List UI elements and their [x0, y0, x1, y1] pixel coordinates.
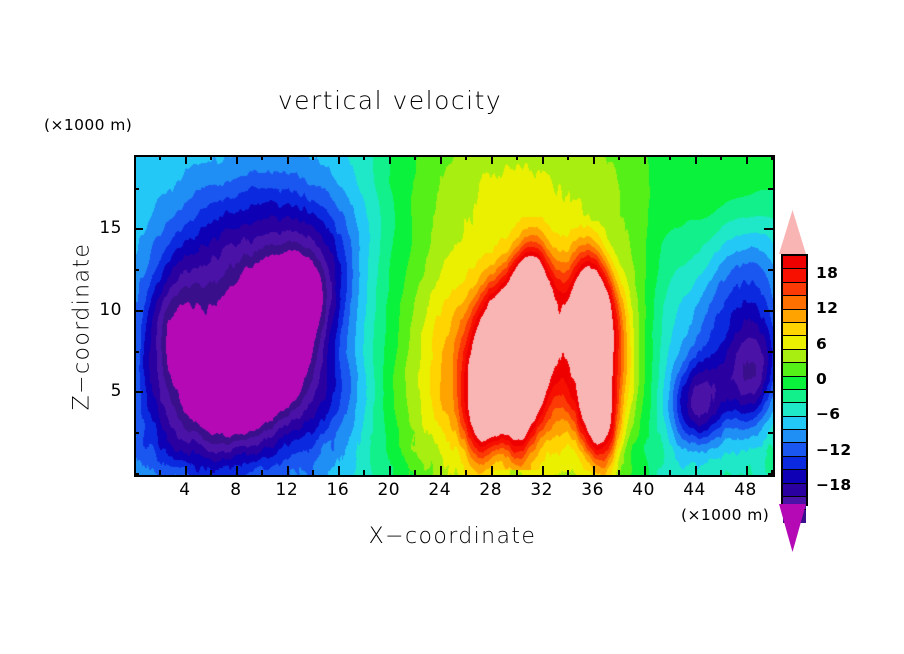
tick-x-top: [644, 155, 646, 164]
x-axis-title: X−coordinate: [0, 524, 904, 549]
tick-x-top: [338, 155, 340, 164]
colorbar-band: [783, 256, 806, 268]
tick-x-top: [210, 155, 212, 160]
colorbar-band: [783, 417, 806, 429]
tick-x-top: [567, 155, 569, 160]
tick-x-top: [491, 155, 493, 164]
tick-x-top: [669, 155, 671, 160]
x-tick-label: 28: [479, 480, 502, 500]
colorbar-band: [783, 430, 806, 442]
tick-x-bottom: [669, 470, 671, 475]
tick-x-bottom: [491, 466, 493, 475]
colorbar-over-arrow: [779, 210, 806, 254]
y-tick-label: 15: [76, 218, 122, 238]
tick-x-bottom: [159, 470, 161, 475]
tick-x-top: [695, 155, 697, 164]
tick-y-left: [134, 188, 139, 190]
colorbar-tick-label: 6: [816, 335, 827, 353]
tick-x-top: [236, 155, 238, 164]
tick-x-top: [516, 155, 518, 160]
colorbar-band: [783, 443, 806, 455]
tick-x-bottom: [236, 466, 238, 475]
tick-x-bottom: [720, 470, 722, 475]
tick-x-bottom: [312, 470, 314, 475]
colorbar-tick-label: 12: [816, 299, 838, 317]
y-axis-title: Z−coordinate: [70, 207, 95, 447]
colorbar-band: [783, 296, 806, 308]
colorbar-band: [783, 377, 806, 389]
tick-x-top: [440, 155, 442, 164]
tick-x-bottom: [440, 466, 442, 475]
x-tick-label: 12: [276, 480, 299, 500]
x-tick-label: 16: [327, 480, 350, 500]
figure-root: vertical velocity (×1000 m) (×1000 m) X−…: [0, 0, 904, 654]
colorbar-band: [783, 363, 806, 375]
colorbar-band: [783, 457, 806, 469]
tick-x-top: [261, 155, 263, 160]
x-axis-unit-label: (×1000 m): [681, 506, 769, 524]
tick-y-left: [134, 269, 139, 271]
colorbar-band: [783, 310, 806, 322]
tick-x-bottom: [465, 470, 467, 475]
colorbar-bands: [781, 254, 808, 506]
tick-y-left: [134, 351, 139, 353]
tick-x-bottom: [618, 470, 620, 475]
x-tick-label: 20: [377, 480, 400, 500]
colorbar-tick-label: 18: [816, 264, 838, 282]
y-tick-label: 10: [76, 300, 122, 320]
tick-x-top: [542, 155, 544, 164]
colorbar-band: [783, 470, 806, 482]
tick-x-top: [618, 155, 620, 160]
tick-x-top: [134, 155, 136, 160]
tick-y-right: [768, 188, 773, 190]
tick-y-left: [134, 310, 143, 312]
tick-x-top: [771, 155, 773, 160]
x-tick-label: 24: [428, 480, 451, 500]
tick-x-bottom: [644, 466, 646, 475]
colorbar-band: [783, 403, 806, 415]
tick-x-top: [465, 155, 467, 160]
colorbar-band: [783, 269, 806, 281]
colorbar-tick-label: −12: [816, 441, 851, 459]
tick-y-left: [134, 432, 139, 434]
x-tick-label: 36: [581, 480, 604, 500]
tick-y-left: [134, 228, 143, 230]
tick-x-bottom: [287, 466, 289, 475]
colorbar-tick-label: 0: [816, 370, 827, 388]
colorbar-tick-label: −6: [816, 405, 840, 423]
tick-x-bottom: [210, 470, 212, 475]
tick-y-left: [134, 473, 139, 475]
colorbar-band: [783, 336, 806, 348]
tick-x-bottom: [542, 466, 544, 475]
x-tick-label: 44: [683, 480, 706, 500]
tick-x-bottom: [185, 466, 187, 475]
tick-x-bottom: [695, 466, 697, 475]
tick-x-top: [720, 155, 722, 160]
x-tick-label: 32: [530, 480, 553, 500]
x-tick-label: 40: [632, 480, 655, 500]
tick-x-top: [746, 155, 748, 164]
x-tick-label: 48: [734, 480, 757, 500]
colorbar-band: [783, 350, 806, 362]
x-tick-label: 8: [230, 480, 241, 500]
colorbar-tick-label: −18: [816, 476, 851, 494]
tick-x-bottom: [363, 470, 365, 475]
tick-x-bottom: [593, 466, 595, 475]
tick-x-top: [185, 155, 187, 164]
tick-x-top: [414, 155, 416, 160]
tick-x-top: [363, 155, 365, 160]
colorbar: 181260−6−12−18: [772, 204, 902, 514]
contour-plot-area: [134, 155, 775, 477]
tick-x-top: [593, 155, 595, 164]
tick-x-bottom: [516, 470, 518, 475]
tick-x-bottom: [261, 470, 263, 475]
x-tick-label: 4: [179, 480, 190, 500]
tick-x-top: [389, 155, 391, 164]
y-tick-label: 5: [76, 381, 122, 401]
colorbar-band: [783, 283, 806, 295]
tick-x-bottom: [746, 466, 748, 475]
y-axis-unit-label: (×1000 m): [44, 116, 132, 134]
tick-x-bottom: [389, 466, 391, 475]
tick-x-top: [159, 155, 161, 160]
tick-x-top: [312, 155, 314, 160]
tick-x-bottom: [338, 466, 340, 475]
tick-x-top: [287, 155, 289, 164]
tick-y-left: [134, 391, 143, 393]
tick-x-bottom: [567, 470, 569, 475]
colorbar-band: [783, 323, 806, 335]
page-title: vertical velocity: [0, 86, 780, 115]
colorbar-band: [783, 390, 806, 402]
tick-x-bottom: [414, 470, 416, 475]
vertical-velocity-field: [136, 157, 773, 475]
colorbar-band: [783, 484, 806, 496]
